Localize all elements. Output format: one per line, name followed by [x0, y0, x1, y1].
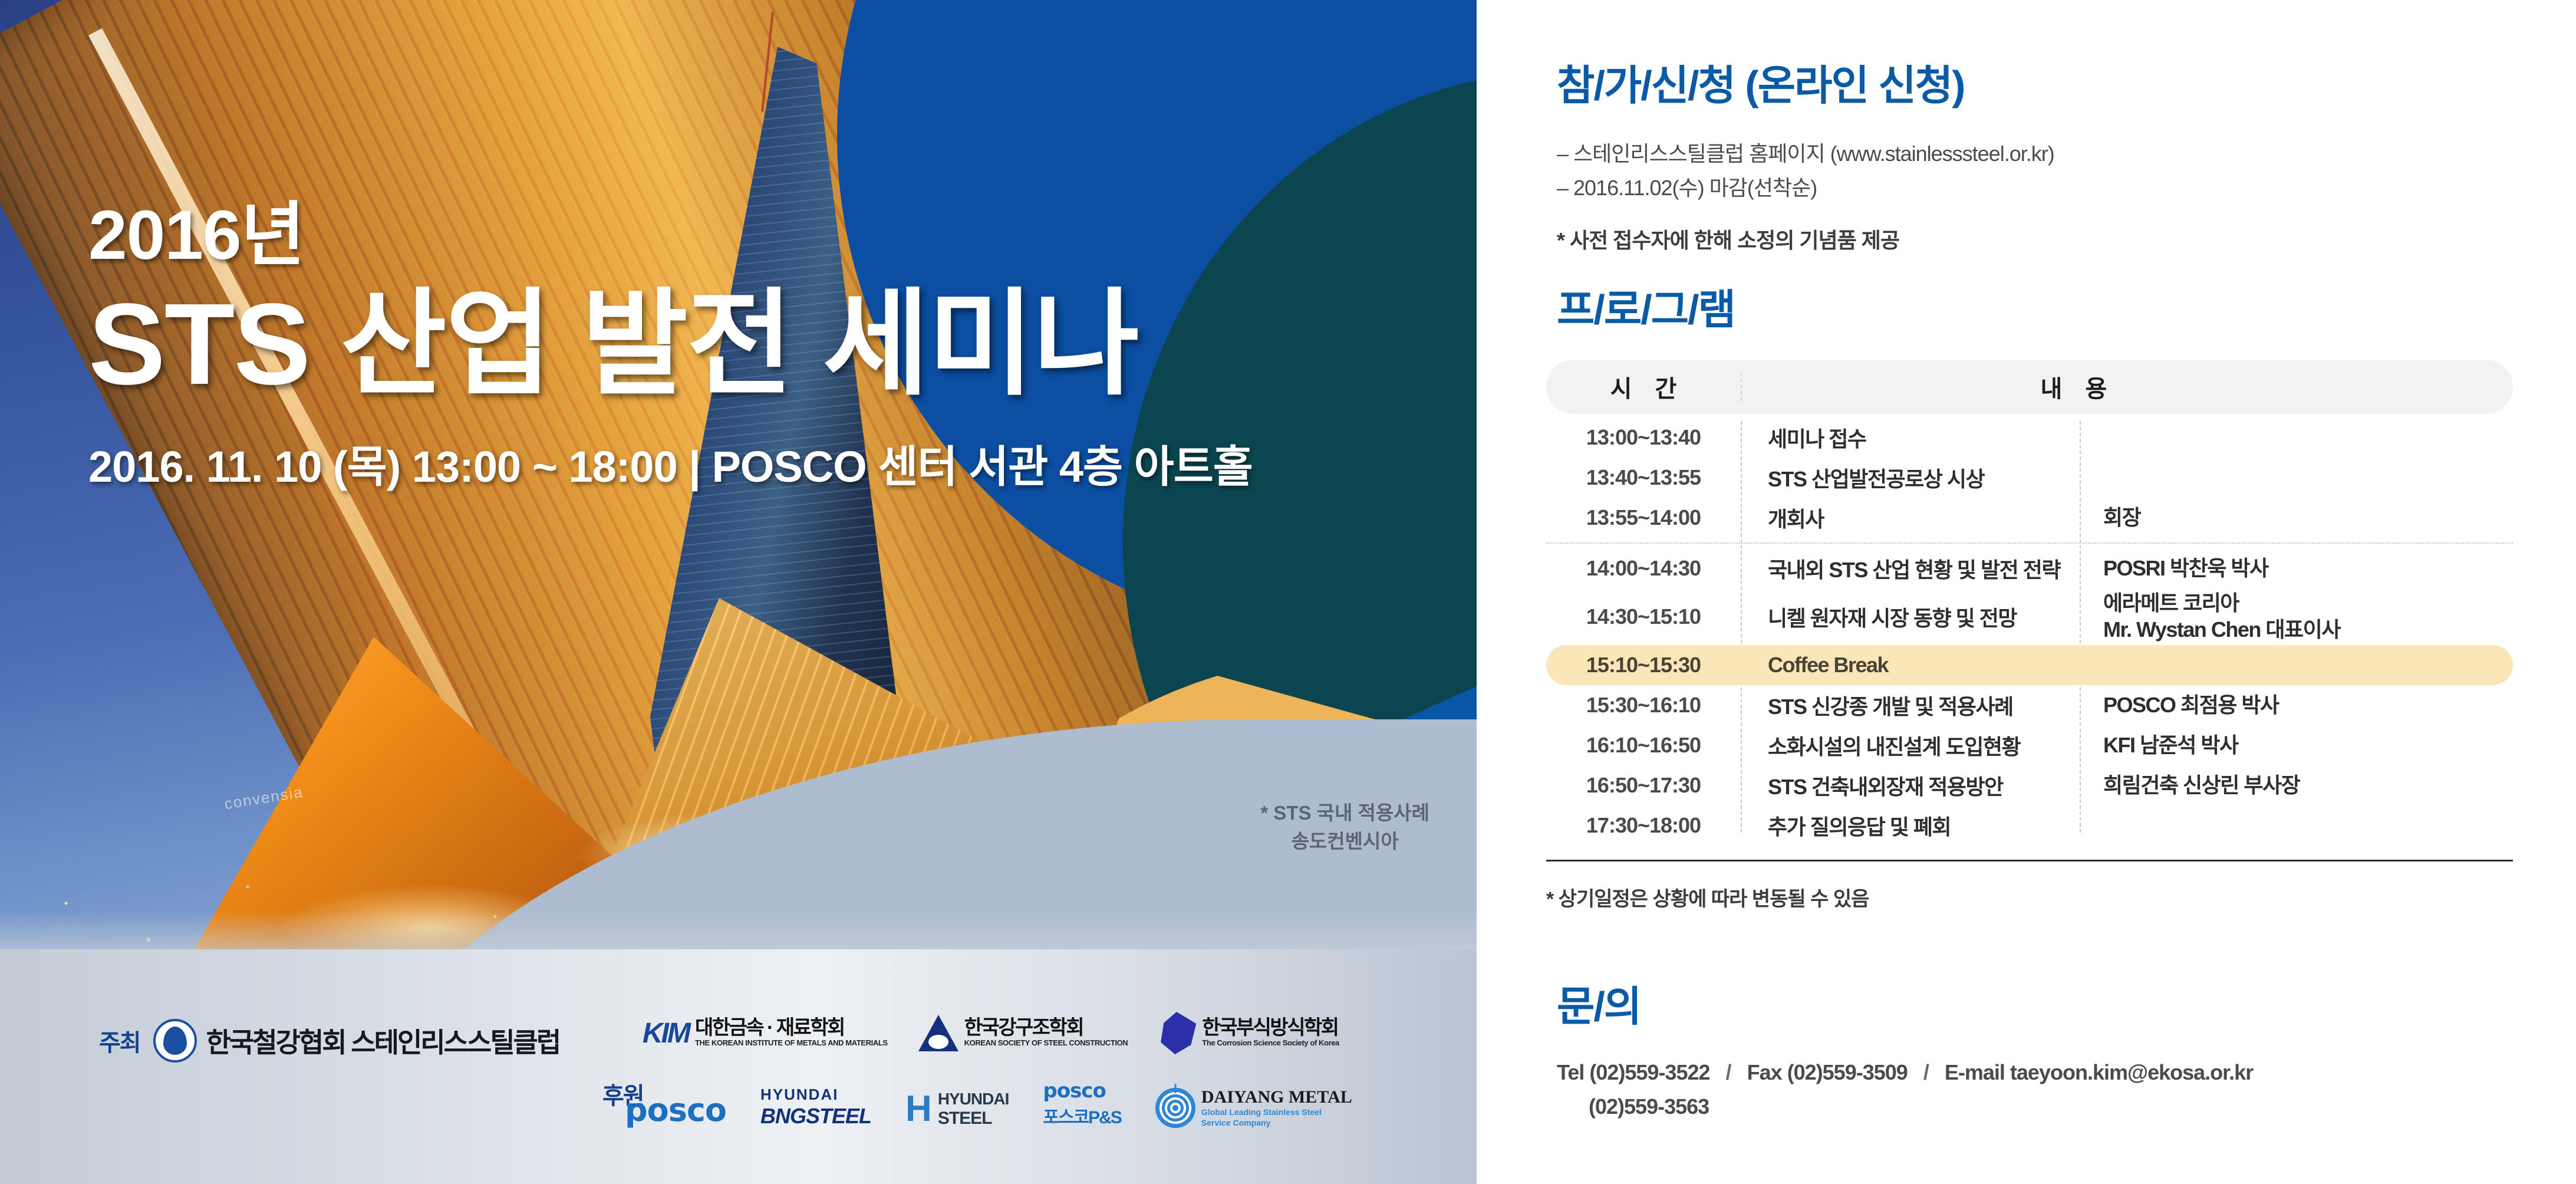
- program-table: 시 간 내 용 13:00~13:40세미나 접수13:40~13:55STS …: [1546, 360, 2513, 912]
- program-row: 17:30~18:00추가 질의응답 및 폐회: [1546, 805, 2513, 846]
- program-row-speaker: 에라메트 코리아 Mr. Wystan Chen 대표이사: [2080, 590, 2513, 643]
- posco-wordmark: posco: [625, 1091, 726, 1129]
- cssk-gem-icon: [1158, 1012, 1196, 1054]
- program-row-topic: 개회사: [1741, 502, 2080, 533]
- apply-section-heading: 참/가/신/청 (온라인 신청): [1557, 65, 1964, 106]
- credits-bar: 주최 한국철강협회 스테인리스스틸클럽 후원 KIM 대한금속 · 재료학회 T…: [0, 1007, 1477, 1184]
- hero-image-panel: convensia 2016년 STS 산업 발전 세미나 2016. 11. …: [0, 0, 1477, 1184]
- host-label: 주최: [99, 1024, 140, 1058]
- program-row-topic: STS 신강종 개발 및 적용사례: [1741, 690, 2080, 721]
- tel-value-secondary[interactable]: (02)559-3563: [1589, 1094, 1709, 1119]
- program-row-time: 17:30~18:00: [1546, 813, 1741, 838]
- sponsor-logos-row-2: posco HYUNDAI BNGSTEEL H HYUNDAI STEEL: [625, 1079, 1352, 1129]
- program-footnote: * 상기일정은 상황에 따라 변동될 수 있음: [1546, 883, 2513, 912]
- daiyang-wordmark: DAIYANG METAL: [1201, 1087, 1352, 1107]
- program-row-topic: 추가 질의응답 및 폐회: [1741, 810, 2080, 841]
- apply-bullet-deadline: – 2016.11.02(수) 마감(선착순): [1557, 171, 2054, 205]
- hyundai-steel-line1: HYUNDAI: [938, 1090, 1009, 1108]
- bng-steel-text: BNGSTEEL: [760, 1104, 871, 1128]
- photo-caption-line-1: * STS 국내 적용사례: [1260, 799, 1429, 827]
- kim-wordmark: KIM: [643, 1017, 689, 1050]
- program-row-time: 13:55~14:00: [1546, 505, 1741, 530]
- logo-kim: KIM 대한금속 · 재료학회 THE KOREAN INSTITUTE OF …: [643, 1017, 888, 1050]
- kssc-triangle-icon: [918, 1015, 958, 1051]
- apply-bullet-list: – 스테인리스스틸클럽 홈페이지 (www.stainlesssteel.or.…: [1557, 137, 2054, 254]
- cssk-korean-name: 한국부식방식학회: [1202, 1017, 1338, 1039]
- program-row: 13:55~14:00개회사회장: [1546, 498, 2513, 538]
- kssc-korean-name: 한국강구조학회: [964, 1017, 1083, 1039]
- program-row: 15:10~15:30Coffee Break: [1546, 645, 2513, 685]
- hyundai-steel-line2: STEEL: [938, 1109, 992, 1128]
- kosa-seal-icon: [153, 1019, 197, 1063]
- program-row-speaker: POSCO 최점용 박사: [2080, 692, 2513, 719]
- program-row-topic: 국내외 STS 산업 현황 및 발전 전략: [1741, 553, 2080, 584]
- program-table-body: 13:00~13:40세미나 접수13:40~13:55STS 산업발전공로상 …: [1546, 417, 2513, 846]
- contact-separator-2: /: [1913, 1060, 1939, 1084]
- daiyang-tagline: Global Leading Stainless Steel Service C…: [1201, 1107, 1322, 1127]
- contact-separator-1: /: [1715, 1060, 1742, 1084]
- apply-bullet-homepage: – 스테인리스스틸클럽 홈페이지 (www.stainlesssteel.or.…: [1557, 137, 2054, 171]
- program-row-topic: 니켈 원자재 시장 동향 및 전망: [1741, 601, 2080, 632]
- seminar-poster: convensia 2016년 STS 산업 발전 세미나 2016. 11. …: [0, 0, 2576, 1184]
- logo-posco: posco: [625, 1091, 726, 1129]
- logo-kssc: 한국강구조학회 KOREAN SOCIETY OF STEEL CONSTRUC…: [918, 1015, 1128, 1051]
- inquiry-contact-block: Tel (02)559-3522 / Fax (02)559-3509 / E-…: [1557, 1055, 2253, 1123]
- program-row-time: 15:30~16:10: [1546, 693, 1741, 718]
- bng-hyundai-text: HYUNDAI: [760, 1086, 838, 1103]
- daiyang-target-icon: [1155, 1088, 1195, 1128]
- host-row: 주최 한국철강협회 스테인리스스틸클럽: [99, 1019, 559, 1063]
- column-header-content: 내 용: [1741, 370, 2513, 404]
- logo-daiyang-metal: DAIYANG METAL Global Leading Stainless S…: [1155, 1087, 1352, 1129]
- program-row-topic: 세미나 접수: [1741, 422, 2080, 453]
- program-table-header: 시 간 내 용: [1546, 360, 2513, 414]
- email-value[interactable]: taeyoon.kim@ekosa.or.kr: [2010, 1060, 2253, 1084]
- logo-bng-steel: HYUNDAI BNGSTEEL: [760, 1086, 871, 1129]
- inquiry-section-heading: 문/의: [1557, 986, 1641, 1027]
- info-panel: 참/가/신/청 (온라인 신청) – 스테인리스스틸클럽 홈페이지 (www.s…: [1477, 0, 2576, 1184]
- program-row-topic: STS 산업발전공로상 시상: [1741, 462, 2080, 493]
- hero-year: 2016년: [88, 200, 1326, 270]
- posco-pns-wordmark: posco: [1043, 1079, 1105, 1103]
- program-row-time: 15:10~15:30: [1546, 653, 1741, 677]
- program-row-time: 16:10~16:50: [1546, 733, 1741, 758]
- host-organization-name: 한국철강협회 스테인리스스틸클럽: [206, 1021, 560, 1060]
- logo-posco-pns: posco 포스코P&S: [1043, 1079, 1121, 1129]
- kssc-english-name: KOREAN SOCIETY OF STEEL CONSTRUCTION: [964, 1038, 1128, 1047]
- program-row: 13:00~13:40세미나 접수: [1546, 417, 2513, 458]
- hero-headline-block: 2016년 STS 산업 발전 세미나 2016. 11. 10 (목) 13:…: [88, 200, 1326, 495]
- program-row: 16:50~17:30STS 건축내외장재 적용방안희림건축 신상린 부사장: [1546, 765, 2513, 805]
- program-row-topic: STS 건축내외장재 적용방안: [1741, 770, 2080, 801]
- fax-value: (02)559-3509: [1787, 1060, 1908, 1084]
- program-group-divider: [1546, 542, 2513, 544]
- program-row-time: 13:40~13:55: [1546, 465, 1741, 490]
- program-row-time: 14:30~15:10: [1546, 604, 1741, 629]
- apply-note: * 사전 접수자에 한해 소정의 기념품 제공: [1557, 223, 2054, 254]
- hero-title: STS 산업 발전 세미나: [88, 279, 1326, 409]
- sponsor-logos-row-1: KIM 대한금속 · 재료학회 THE KOREAN INSTITUTE OF …: [643, 1012, 1339, 1054]
- program-row-speaker: 희림건축 신상린 부사장: [2080, 772, 2513, 799]
- program-row: 15:30~16:10STS 신강종 개발 및 적용사례POSCO 최점용 박사: [1546, 685, 2513, 725]
- logo-hyundai-steel: H HYUNDAI STEEL: [905, 1090, 1009, 1129]
- kim-korean-name: 대한금속 · 재료학회: [695, 1017, 844, 1039]
- header-column-divider: [1741, 373, 1742, 401]
- email-label: E-mail: [1945, 1060, 2005, 1084]
- program-row-time: 13:00~13:40: [1546, 425, 1741, 450]
- table-bottom-rule: [1546, 860, 2513, 861]
- posco-pns-korean: 포스코P&S: [1043, 1108, 1121, 1127]
- logo-cssk: 한국부식방식학회 The Corrosion Science Society o…: [1158, 1012, 1339, 1054]
- program-row-time: 16:50~17:30: [1546, 773, 1741, 798]
- fax-label: Fax: [1747, 1060, 1782, 1084]
- program-row-speaker: POSRI 박찬욱 박사: [2080, 555, 2513, 582]
- hero-datetime-venue: 2016. 11. 10 (목) 13:00 ~ 18:00 | POSCO 센…: [88, 432, 1326, 495]
- tel-value[interactable]: (02)559-3522: [1589, 1060, 1709, 1084]
- program-row: 14:00~14:30국내외 STS 산업 현황 및 발전 전략POSRI 박찬…: [1546, 548, 2513, 588]
- program-row-time: 14:00~14:30: [1546, 556, 1741, 581]
- program-section-heading: 프/로/그/램: [1557, 289, 1735, 330]
- contact-line-1: Tel (02)559-3522 / Fax (02)559-3509 / E-…: [1557, 1055, 2253, 1090]
- contact-line-2: (02)559-3563: [1557, 1090, 2253, 1124]
- program-row-topic: Coffee Break: [1741, 653, 2080, 677]
- program-row-topic: 소화시설의 내진설계 도입현황: [1741, 730, 2080, 761]
- program-row: 13:40~13:55STS 산업발전공로상 시상: [1546, 458, 2513, 498]
- program-row-speaker: KFI 남준석 박사: [2080, 732, 2513, 759]
- column-header-time: 시 간: [1546, 370, 1741, 404]
- tel-label: Tel: [1557, 1060, 1584, 1084]
- host-organization: 한국철강협회 스테인리스스틸클럽: [153, 1019, 560, 1063]
- photo-caption: * STS 국내 적용사례 송도컨벤시아: [1260, 799, 1429, 856]
- program-row: 14:30~15:10니켈 원자재 시장 동향 및 전망에라메트 코리아 Mr.…: [1546, 588, 2513, 645]
- cssk-english-name: The Corrosion Science Society of Korea: [1202, 1038, 1339, 1047]
- photo-caption-line-2: 송도컨벤시아: [1260, 827, 1429, 856]
- kim-english-name: THE KOREAN INSTITUTE OF METALS AND MATER…: [695, 1038, 888, 1047]
- program-row-speaker: 회장: [2080, 505, 2513, 531]
- hyundai-h-icon: H: [905, 1094, 932, 1124]
- program-row: 16:10~16:50소화시설의 내진설계 도입현황KFI 남준석 박사: [1546, 725, 2513, 765]
